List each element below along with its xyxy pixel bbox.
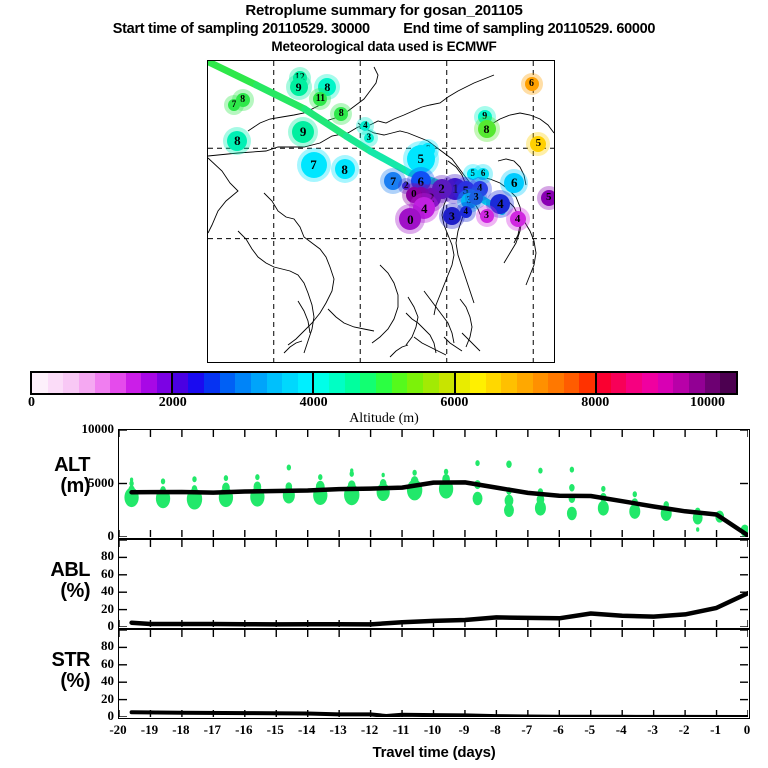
alt-scatter-dot-14-3 [570,467,574,473]
colorbar-swatch-12 [220,373,236,393]
alt-y-tick-labels: 0500010000 [52,429,114,536]
colorbar-swatch-5 [110,373,126,393]
colorbar-swatch-18 [314,373,330,393]
x-tick--18: -18 [166,722,196,738]
x-tick--10: -10 [418,722,448,738]
str-ytick-40: 40 [54,673,114,689]
alt-scatter-dot-7-3 [350,468,353,473]
colorbar-swatch-36 [595,373,611,393]
alt-scatter-dot-4-2 [255,474,259,480]
colorbar-swatch-21 [360,373,376,393]
colorbar-swatch-9 [173,373,189,393]
colorbar-swatch-26 [439,373,455,393]
alt-plot-panel[interactable] [118,429,750,539]
alt-scatter-dot-12-1 [505,495,514,507]
str-plot-svg [119,630,748,717]
str-ytick-20: 20 [54,691,114,707]
x-tick--16: -16 [229,722,259,738]
alt-ytick-5000: 5000 [54,475,114,491]
abl-ytick-40: 40 [54,583,114,599]
colorbar-swatch-27 [454,373,470,393]
x-tick--14: -14 [292,722,322,738]
colorbar-swatch-19 [329,373,345,393]
x-tick--13: -13 [323,722,353,738]
alt-ytick-10000: 10000 [54,421,114,437]
colorbar-swatch-24 [407,373,423,393]
map-marker-3-38[interactable]: 3 [480,209,494,223]
str-ytick-60: 60 [54,656,114,672]
x-tick--3: -3 [638,722,668,738]
alt-scatter-dot-8-2 [382,473,385,478]
alt-scatter-dot-2-2 [192,476,196,482]
alt-scatter-dot-15-0 [598,501,609,516]
alt-scatter-dot-13-3 [538,468,542,474]
start-time-label: Start time of sampling 20110529. 30000 [113,20,370,38]
colorbar-swatch-35 [579,373,595,393]
alt-scatter-dot-18-2 [696,527,699,532]
map-marker-8-6[interactable]: 8 [334,107,348,121]
alt-scatter-dot-10-2 [444,469,448,475]
colorbar-tick-10000: 10000 [690,395,725,411]
colorbar-swatch-42 [689,373,705,393]
altitude-colorbar[interactable] [30,371,738,395]
x-tick--5: -5 [575,722,605,738]
map-marker-3-10[interactable]: 3 [364,133,374,143]
alt-scatter-dot-3-2 [224,475,228,481]
map-marker-7-11[interactable]: 7 [301,152,327,178]
str-ytick-80: 80 [54,638,114,654]
colorbar-swatch-22 [376,373,392,393]
abl-y-tick-labels: 020406080 [52,539,114,626]
abl-plot-panel[interactable] [118,539,750,629]
colorbar-swatch-32 [533,373,549,393]
abl-ytick-80: 80 [54,548,114,564]
colorbar-swatch-23 [392,373,408,393]
abl-plot-svg [119,540,748,627]
colorbar-swatch-39 [642,373,658,393]
x-tick--19: -19 [134,722,164,738]
map-marker-4-41[interactable]: 4 [460,206,472,218]
colorbar-swatch-44 [720,373,736,393]
x-tick--1: -1 [701,722,731,738]
colorbar-tick-8000: 8000 [569,395,621,411]
alt-scatter-dot-5-2 [287,464,291,470]
colorbar-swatch-41 [673,373,689,393]
colorbar-divider-3 [595,371,597,395]
alt-scatter-dot-9-2 [412,470,416,476]
x-tick--6: -6 [543,722,573,738]
colorbar-tick-0: 0 [28,395,35,411]
colorbar-swatch-4 [95,373,111,393]
map-marker-9-7[interactable]: 9 [292,121,314,143]
x-tick--15: -15 [260,722,290,738]
map-marker-5-23[interactable]: 5 [541,190,555,206]
map-marker-8-19[interactable]: 8 [478,120,496,138]
alt-scatter-dot-1-2 [161,478,165,484]
map-marker-7-1[interactable]: 7 [228,99,240,111]
header-block: Retroplume summary for gosan_201105 Star… [0,2,768,55]
colorbar-axis-label: Altitude (m) [30,411,738,427]
abl-ytick-60: 60 [54,566,114,582]
sampling-time-row: Start time of sampling 20110529. 30000 E… [0,20,768,38]
colorbar-swatch-14 [251,373,267,393]
colorbar-swatch-40 [658,373,674,393]
colorbar-swatch-28 [470,373,486,393]
alt-scatter-dot-11-0 [473,492,483,506]
x-tick-0: 0 [732,722,762,738]
colorbar-swatch-25 [423,373,439,393]
alt-scatter-dot-14-2 [569,484,575,492]
alt-scatter-dot-12-3 [506,460,512,468]
colorbar-tick-6000: 6000 [428,395,480,411]
alt-scatter-points [124,460,748,536]
colorbar-swatch-15 [267,373,283,393]
colorbar-divider-1 [312,371,314,395]
colorbar-swatch-0 [32,373,48,393]
colorbar-swatch-13 [235,373,251,393]
str-axis-ticks [119,630,748,717]
alt-scatter-dot-11-2 [475,460,479,466]
x-tick--7: -7 [512,722,542,738]
colorbar-swatch-43 [705,373,721,393]
colorbar-swatch-37 [611,373,627,393]
map-marker-8-12[interactable]: 8 [335,159,355,179]
alt-scatter-dot-0-3 [130,478,133,483]
map-marker-9-3[interactable]: 9 [290,78,308,96]
colorbar-swatch-1 [48,373,64,393]
colorbar-divider-2 [454,371,456,395]
map-marker-4-39[interactable]: 4 [510,211,526,227]
colorbar-swatch-20 [345,373,361,393]
x-tick--20: -20 [103,722,133,738]
str-y-tick-labels: 020406080 [52,629,114,716]
colorbar-swatch-33 [548,373,564,393]
str-plot-panel[interactable] [118,629,750,719]
colorbar-swatch-29 [486,373,502,393]
colorbar-swatch-7 [141,373,157,393]
colorbar-swatch-10 [188,373,204,393]
colorbar-swatch-16 [282,373,298,393]
x-tick--12: -12 [355,722,385,738]
map-marker-6-22[interactable]: 6 [504,173,524,193]
colorbar-tick-2000: 2000 [147,395,199,411]
colorbar-swatch-3 [79,373,95,393]
abl-axis-ticks [119,540,748,627]
meteorological-data-label: Meteorological data used is ECMWF [0,38,768,55]
alt-scatter-dot-15-2 [601,486,605,492]
x-tick--4: -4 [606,722,636,738]
x-tick--8: -8 [480,722,510,738]
alt-scatter-dot-6-2 [318,474,322,480]
end-time-label: End time of sampling 20110529. 60000 [403,20,655,38]
colorbar-swatch-17 [298,373,314,393]
colorbar-tick-4000: 4000 [288,395,340,411]
page-title: Retroplume summary for gosan_201105 [0,2,768,20]
alt-scatter-dot-16-2 [633,491,637,497]
abl-ytick-20: 20 [54,601,114,617]
colorbar-swatch-6 [126,373,142,393]
map-marker-6-20[interactable]: 6 [525,77,539,91]
colorbar-swatch-30 [501,373,517,393]
colorbar-swatch-2 [63,373,79,393]
colorbar-swatch-38 [626,373,642,393]
colorbar-swatch-31 [517,373,533,393]
alt-scatter-dot-14-0 [567,507,577,521]
trajectory-segment-0 [208,61,256,85]
map-marker-11-5[interactable]: 11 [313,92,327,106]
colorbar-divider-0 [171,371,173,395]
retroplume-map[interactable]: 8712981189843786576298656556154233210404… [207,60,555,363]
str-series-line [132,712,748,717]
colorbar-swatch-34 [564,373,580,393]
x-tick--11: -11 [386,722,416,738]
x-axis-label: Travel time (days) [118,744,750,761]
colorbar-swatch-11 [204,373,220,393]
alt-plot-svg [119,430,748,537]
x-tick--17: -17 [197,722,227,738]
colorbar-block: 0200040006000800010000 Altitude (m) [30,371,738,395]
abl-series-line [132,593,748,624]
x-tick--9: -9 [449,722,479,738]
x-tick--2: -2 [669,722,699,738]
